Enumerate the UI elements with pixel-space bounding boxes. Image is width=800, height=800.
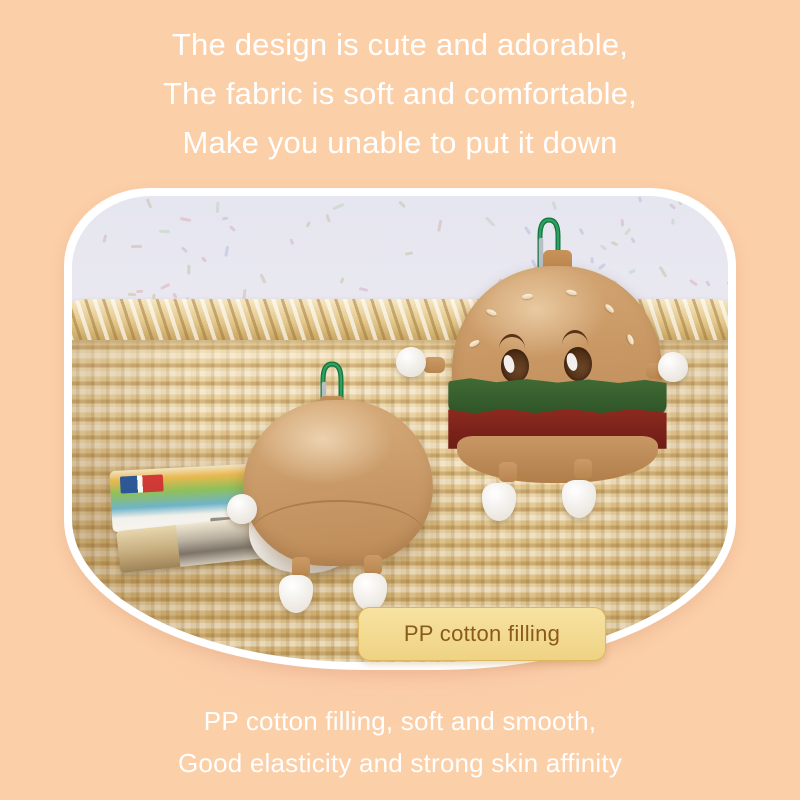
card-logo-icon (120, 475, 164, 494)
fabric-fleck (340, 277, 345, 284)
plush-leg-left (499, 462, 517, 482)
product-photo (64, 188, 736, 670)
fabric-fleck (172, 292, 177, 298)
footer-line-1: PP cotton filling, soft and smooth, (0, 700, 800, 742)
fabric-fleck (398, 201, 406, 209)
fabric-fleck (187, 264, 190, 274)
fabric-fleck (689, 279, 698, 286)
plush-eyebrow-left (499, 334, 525, 349)
plush-leg-right (574, 459, 592, 479)
fabric-fleck (131, 245, 142, 248)
fabric-fleck (524, 225, 532, 234)
headline-line-3: Make you unable to put it down (0, 118, 800, 167)
fabric-fleck (180, 217, 191, 222)
fabric-fleck (290, 239, 295, 245)
plush-eye-right (564, 347, 592, 381)
burger-plush-front (452, 243, 662, 504)
sesame-seed (565, 289, 577, 297)
fabric-fleck (216, 202, 220, 213)
fabric-fleck (128, 292, 136, 296)
plush-back-leg-left (292, 557, 310, 577)
fabric-fleck (201, 256, 207, 263)
plush-eye-left (501, 349, 529, 383)
fabric-fleck (224, 245, 229, 257)
sesame-seed (626, 334, 635, 346)
footer-line-2: Good elasticity and strong skin affinity (0, 742, 800, 784)
fabric-fleck (671, 219, 674, 225)
fabric-fleck (146, 199, 153, 210)
plush-eyebrow-right (562, 330, 588, 345)
fabric-fleck (578, 228, 584, 236)
plush-back-leg-right (364, 555, 382, 575)
fabric-fleck (222, 216, 228, 220)
fabric-fleck (98, 196, 105, 203)
plush-arm-left (423, 357, 445, 373)
sesame-seed (469, 339, 481, 349)
fabric-fleck (326, 214, 332, 223)
fabric-fleck (159, 229, 170, 233)
plush-bottom-bun (457, 436, 659, 483)
fabric-fleck (624, 228, 631, 236)
plush-back-hand-left (227, 494, 257, 524)
photo-image (72, 196, 728, 662)
fabric-fleck (675, 196, 682, 205)
plush-hand-right (658, 352, 688, 382)
fabric-fleck (485, 216, 496, 227)
fabric-fleck (714, 209, 723, 216)
sesame-seed (486, 308, 498, 317)
fabric-fleck (714, 200, 721, 209)
pp-cotton-filling-badge: PP cotton filling (358, 607, 606, 661)
fabric-fleck (705, 280, 711, 286)
fabric-fleck (552, 201, 557, 210)
sesame-seed (603, 303, 614, 314)
fabric-fleck (229, 225, 236, 232)
fabric-fleck (638, 196, 642, 202)
fabric-fleck (305, 221, 311, 228)
fabric-fleck (437, 219, 442, 231)
fabric-fleck (727, 281, 728, 285)
headline-line-1: The design is cute and adorable, (0, 20, 800, 69)
fabric-fleck (620, 219, 624, 226)
fabric-fleck (333, 202, 345, 209)
fabric-fleck (260, 273, 267, 283)
burger-plush-back (243, 382, 433, 606)
headline: The design is cute and adorable, The fab… (0, 20, 800, 167)
plush-back-bun (243, 400, 433, 566)
tube-cap (116, 525, 180, 573)
footer-text: PP cotton filling, soft and smooth, Good… (0, 700, 800, 784)
fabric-fleck (135, 289, 142, 293)
headline-line-2: The fabric is soft and comfortable, (0, 69, 800, 118)
page-root: The design is cute and adorable, The fab… (0, 0, 800, 800)
fabric-fleck (668, 203, 675, 210)
fabric-fleck (405, 251, 413, 255)
fabric-fleck (181, 246, 188, 253)
fabric-fleck (103, 235, 108, 243)
fabric-fleck (160, 282, 170, 289)
plush-hand-left (396, 347, 426, 377)
plush-back-foot-right (353, 573, 387, 611)
fabric-fleck (359, 287, 369, 292)
plush-back-seam (250, 500, 425, 535)
badge-label: PP cotton filling (404, 621, 560, 647)
sesame-seed (521, 293, 533, 299)
